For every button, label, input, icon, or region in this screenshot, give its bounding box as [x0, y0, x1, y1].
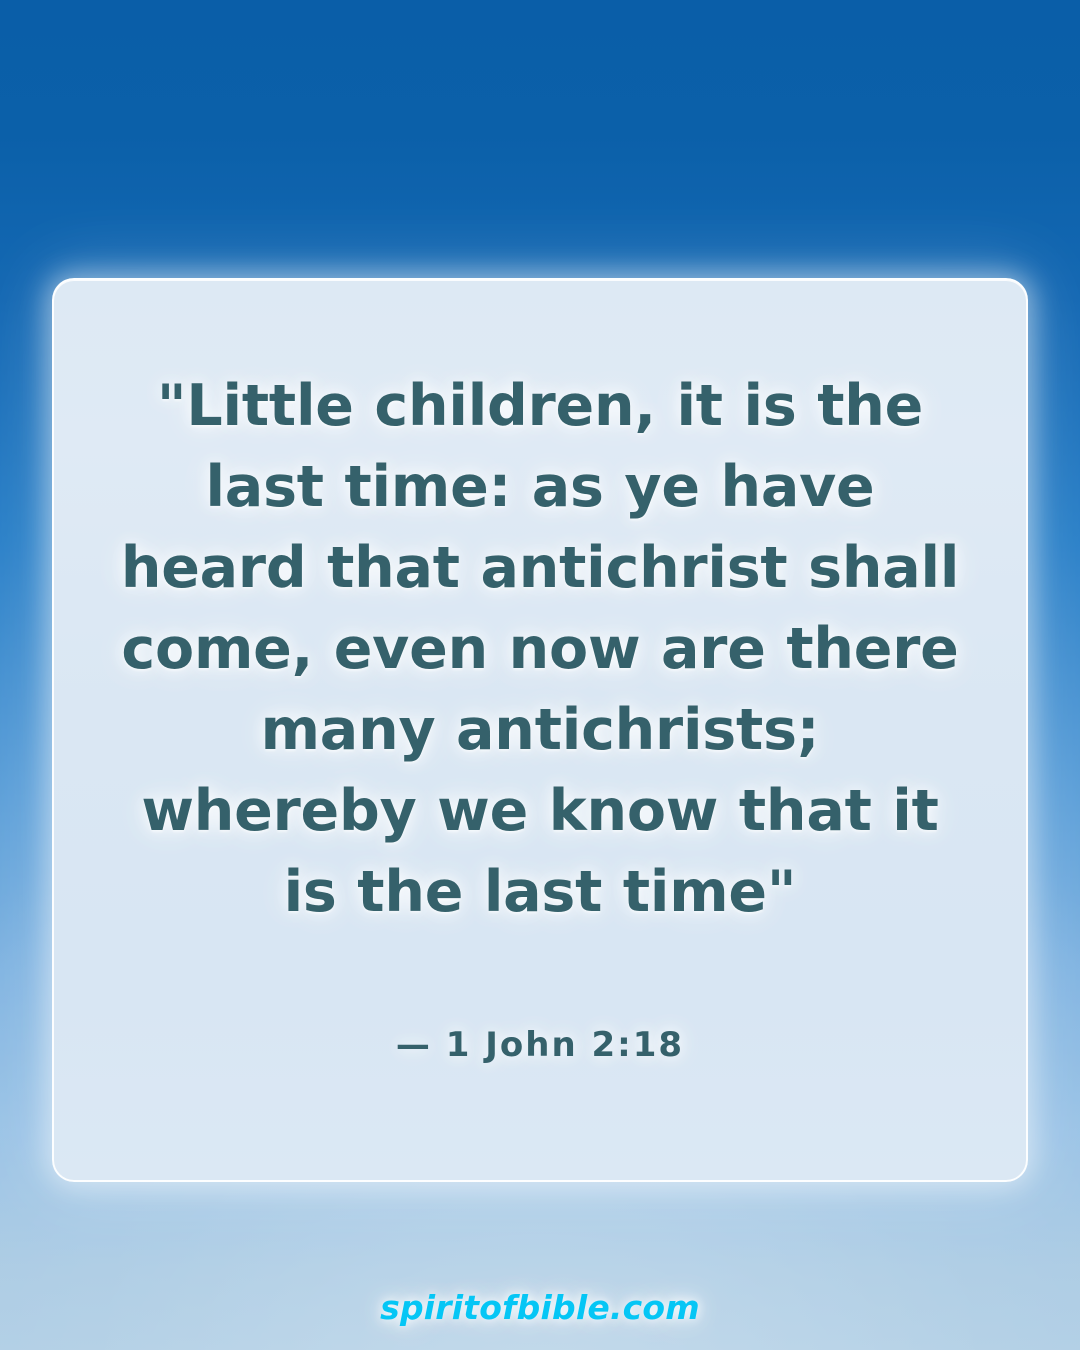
bible-verse-poster: "Little children, it is the last time: a…: [0, 0, 1080, 1350]
footer: spiritofbible.com: [0, 1288, 1080, 1327]
verse-reference: — 1 John 2:18: [120, 1025, 960, 1065]
site-url-watermark[interactable]: spiritofbible.com: [380, 1288, 700, 1327]
verse-quote-text: "Little children, it is the last time: a…: [120, 366, 960, 933]
quote-card-content: "Little children, it is the last time: a…: [120, 280, 960, 1065]
quote-card: "Little children, it is the last time: a…: [52, 278, 1028, 1182]
